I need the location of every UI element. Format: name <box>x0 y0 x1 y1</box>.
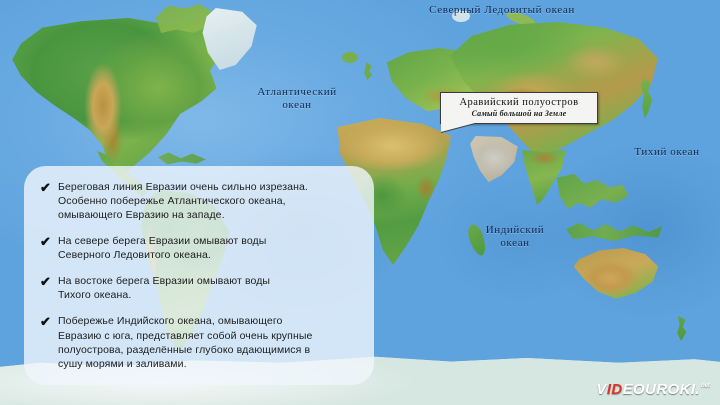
bullet-text: На севере берега Евразии омывают воды Се… <box>58 234 358 262</box>
checkmark-icon: ✔ <box>36 314 58 331</box>
logo-part-net: net <box>701 383 710 389</box>
bullet-text: Побережье Индийского океана, омывающего … <box>58 314 358 370</box>
arctic-ocean-label: Северный Ледовитый океан <box>386 4 618 17</box>
logo-part-id: ID <box>607 382 623 397</box>
bullet-text: Береговая линия Евразии очень сильно изр… <box>58 180 358 222</box>
iceland-island <box>342 52 358 63</box>
bullet-item: ✔ Береговая линия Евразии очень сильно и… <box>36 180 358 222</box>
checkmark-icon: ✔ <box>36 234 58 251</box>
info-text-panel: ✔ Береговая линия Евразии очень сильно и… <box>24 166 374 385</box>
indian-ocean-label: Индийский океан <box>462 224 568 250</box>
videouroki-logo: V ID EOUROKI. net <box>596 382 710 397</box>
callout-subtitle: Самый большой на Земле <box>447 109 591 118</box>
slide-canvas: Северный Ледовитый океан Атлантический о… <box>0 0 720 405</box>
checkmark-icon: ✔ <box>36 180 58 197</box>
arabian-peninsula-callout: Аравийский полуостров Самый большой на З… <box>440 92 598 124</box>
bullet-item: ✔ На востоке берега Евразии омывают воды… <box>36 274 358 302</box>
bullet-item: ✔ На севере берега Евразии омывают воды … <box>36 234 358 262</box>
bullet-item: ✔ Побережье Индийского океана, омывающег… <box>36 314 358 370</box>
logo-part-rest: EOUROKI. <box>623 382 700 397</box>
checkmark-icon: ✔ <box>36 274 58 291</box>
callout-title: Аравийский полуостров <box>447 97 591 108</box>
callout-pointer-tail <box>441 123 475 132</box>
atlantic-ocean-label: Атлантический океан <box>232 86 362 112</box>
bullet-text: На востоке берега Евразии омывают воды Т… <box>58 274 358 302</box>
logo-part-v: V <box>596 382 606 397</box>
pacific-ocean-label: Тихий океан <box>614 146 720 159</box>
